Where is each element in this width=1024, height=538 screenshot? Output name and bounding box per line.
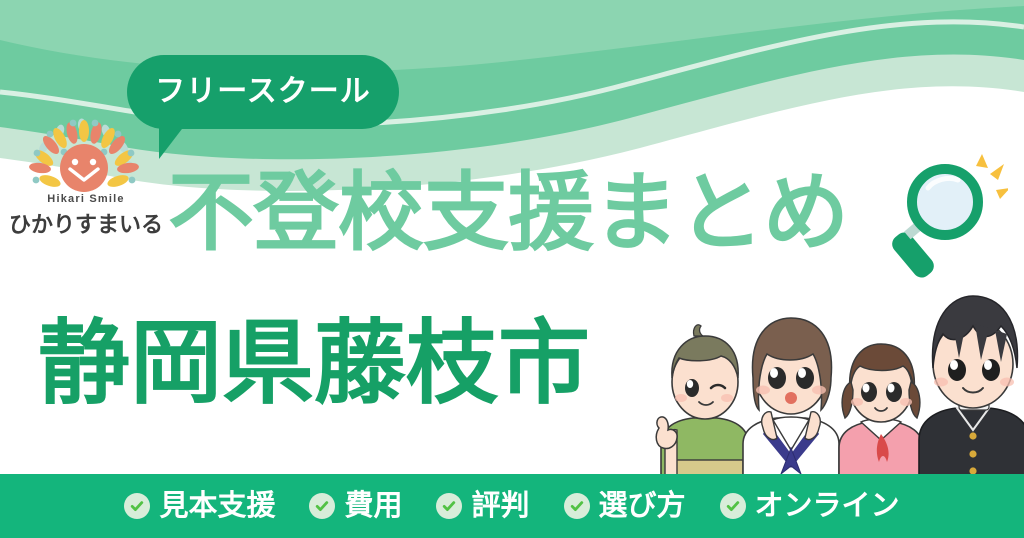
badge-item[interactable]: 見本支援 bbox=[124, 492, 275, 521]
logo-kana-text: ひかりすまいる bbox=[6, 207, 166, 239]
headline-line-2: 静岡県藤枝市 bbox=[38, 318, 590, 410]
check-circle-icon bbox=[309, 493, 335, 519]
badge-item[interactable]: 評判 bbox=[436, 492, 529, 521]
badge-item[interactable]: 選び方 bbox=[564, 492, 686, 521]
banner-root: フリースクール bbox=[0, 0, 1024, 538]
tag-bubble: フリースクール bbox=[127, 55, 399, 129]
check-circle-icon bbox=[436, 493, 462, 519]
badge-label: オンライン bbox=[755, 492, 900, 521]
headline-line-1: 不登校支援まとめ bbox=[168, 170, 848, 256]
smiling-sun-icon bbox=[20, 105, 150, 197]
check-circle-icon bbox=[720, 493, 746, 519]
character-girl-pink bbox=[839, 344, 923, 476]
badge-item[interactable]: オンライン bbox=[720, 492, 900, 521]
badge-item[interactable]: 費用 bbox=[309, 492, 402, 521]
category-tag[interactable]: フリースクール bbox=[127, 55, 412, 160]
four-students-illustration bbox=[645, 278, 1024, 476]
feature-badge-bar: 見本支援 費用 評判 選び方 bbox=[0, 474, 1024, 538]
check-circle-icon bbox=[124, 493, 150, 519]
brand-logo[interactable]: Hikari Smile ひかりすまいる bbox=[6, 105, 166, 235]
character-boy-thumbs-up bbox=[656, 325, 749, 476]
character-boy-gakuran bbox=[919, 296, 1024, 476]
badge-label: 費用 bbox=[344, 492, 402, 521]
badge-label: 評判 bbox=[471, 492, 529, 521]
logo-romaji-text: Hikari Smile bbox=[6, 193, 166, 205]
badge-label: 選び方 bbox=[599, 492, 686, 521]
badge-label: 見本支援 bbox=[159, 492, 275, 521]
character-girl-sailor bbox=[743, 318, 839, 476]
magnifying-glass-icon bbox=[878, 152, 1008, 282]
tag-label: フリースクール bbox=[155, 77, 371, 107]
check-circle-icon bbox=[564, 493, 590, 519]
